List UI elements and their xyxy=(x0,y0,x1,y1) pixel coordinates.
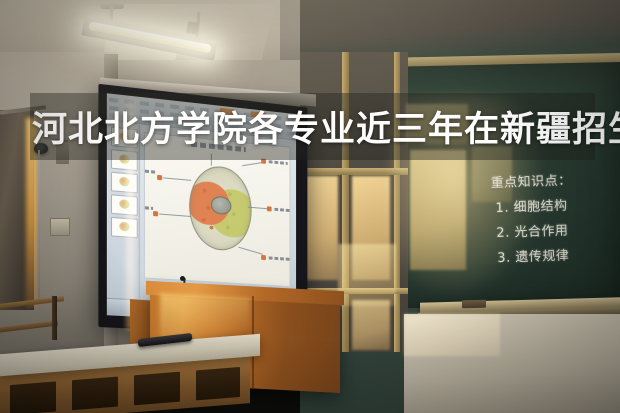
label-leader xyxy=(163,177,191,180)
microphone-icon xyxy=(180,276,185,281)
classroom-photo-thumbnail: 重点知识点： 1. 细胞结构 2. 光合作用 3. 遗传规律 xyxy=(0,0,620,413)
window-light-pane xyxy=(304,176,338,280)
blackboard-heading: 重点知识点： xyxy=(490,168,617,191)
blackboard-notes: 重点知识点： 1. 细胞结构 2. 光合作用 3. 遗传规律 xyxy=(490,168,619,272)
desk-cubby xyxy=(196,367,240,400)
light-endcap xyxy=(186,21,199,35)
label-text xyxy=(269,160,288,165)
label-marker xyxy=(153,211,158,216)
blackboard-item: 3. 遗传规律 xyxy=(493,243,620,266)
label-marker xyxy=(261,255,266,260)
sunlight-patch xyxy=(404,314,500,356)
label-text xyxy=(274,208,289,212)
label-text xyxy=(269,256,290,260)
desk-cubby xyxy=(72,377,118,411)
label-leader xyxy=(242,162,263,166)
label-leader xyxy=(159,213,191,217)
label-text xyxy=(145,170,157,174)
blackboard-eraser xyxy=(462,300,486,309)
blackboard-item: 2. 光合作用 xyxy=(492,218,619,241)
desk-cubby xyxy=(10,381,56,413)
wall-conduit xyxy=(38,150,40,300)
label-text xyxy=(145,206,153,210)
blackboard-item: 1. 细胞结构 xyxy=(491,193,618,216)
shelf-leg xyxy=(52,296,57,340)
sunlight-patch xyxy=(338,244,396,306)
window-light-pane xyxy=(352,300,390,350)
desk-cubby xyxy=(134,372,180,406)
page-title: 河北北方学院各专业近三年在新疆招生 xyxy=(30,93,597,160)
label-leader xyxy=(238,247,263,255)
label-marker xyxy=(267,206,272,211)
wall-switch-plate xyxy=(50,218,70,236)
label-marker xyxy=(157,175,162,181)
